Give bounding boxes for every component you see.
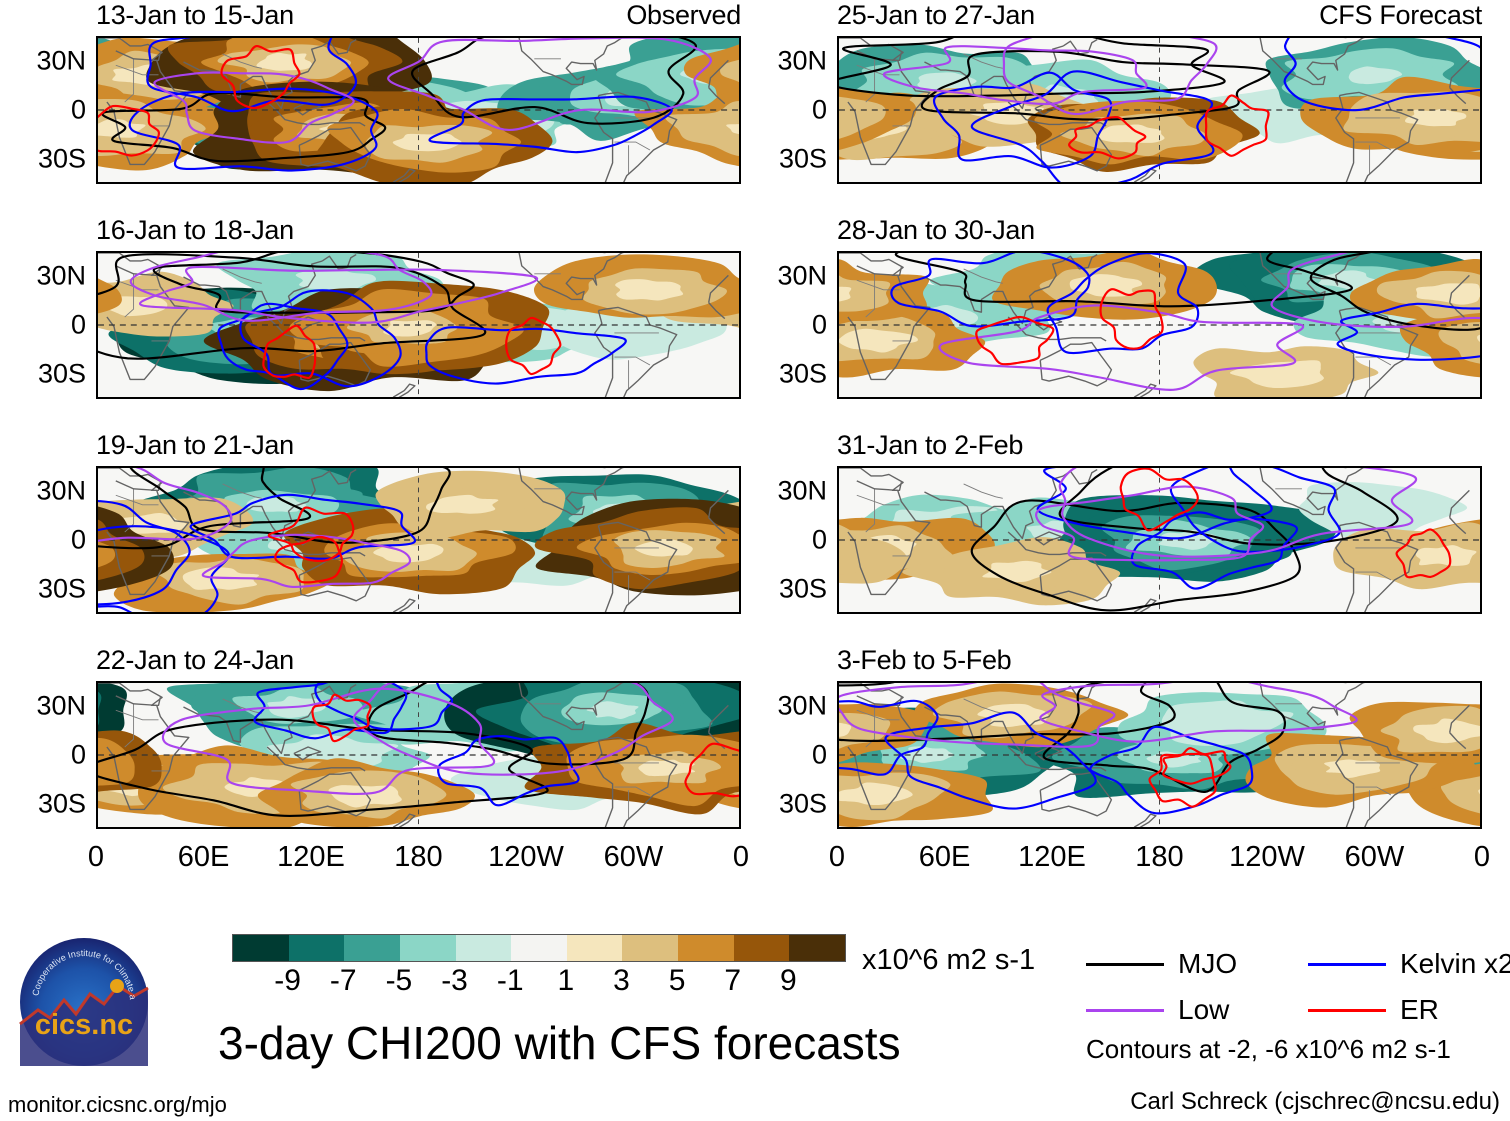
- xaxis-forecast: 060E120E180120W60W0: [837, 837, 1482, 883]
- xaxis-observed: 060E120E180120W60W0: [96, 837, 741, 883]
- ytick-30S: 30S: [779, 146, 827, 173]
- xtick-60E-1: 60E: [919, 843, 971, 872]
- ytick-0: 0: [812, 742, 827, 769]
- colorbar-tick--5: -5: [386, 966, 413, 996]
- svg-text:cics.nc: cics.nc: [35, 1009, 133, 1041]
- cics-nc-logo: cics.nc Cooperative Institute for Climat…: [18, 936, 150, 1068]
- panel-fcst-2-svg: [839, 253, 1480, 397]
- xtick-0-1: 0: [829, 843, 845, 872]
- xtick-120E-0: 120E: [277, 843, 345, 872]
- panel-obs-1-svg: [98, 38, 739, 182]
- ytick-0: 0: [71, 312, 86, 339]
- colorbar-swatch-5: [511, 935, 567, 961]
- panel-fcst-3: 31-Jan to 2-Feb30N030S: [837, 466, 1482, 614]
- ytick-0: 0: [71, 527, 86, 554]
- panel-fcst-3-map[interactable]: [837, 466, 1482, 614]
- xtick-60W-0: 60W: [604, 843, 664, 872]
- colorbar-units-label: x10^6 m2 s-1: [862, 946, 1035, 975]
- panel-fcst-4-svg: [839, 683, 1480, 827]
- colorbar-tick-9: 9: [780, 966, 797, 996]
- legend-low-label: Low: [1178, 996, 1229, 1024]
- legend-er-swatch: [1308, 1009, 1386, 1012]
- panel-obs-4-svg: [98, 683, 739, 827]
- panel-fcst-3-svg: [839, 468, 1480, 612]
- colorbar-tick-5: 5: [669, 966, 686, 996]
- ytick-30N: 30N: [777, 692, 827, 719]
- ytick-0: 0: [71, 742, 86, 769]
- panel-obs-3-yaxis: 30N030S: [4, 466, 94, 614]
- ytick-30N: 30N: [36, 477, 86, 504]
- panel-fcst-2-yaxis: 30N030S: [745, 251, 835, 399]
- colorbar-tick--1: -1: [497, 966, 524, 996]
- panel-fcst-2-title: 28-Jan to 30-Jan: [837, 217, 1035, 244]
- colorbar-swatch-4: [456, 935, 512, 961]
- contour-note: Contours at -2, -6 x10^6 m2 s-1: [1086, 1036, 1451, 1062]
- colorbar-tick--7: -7: [330, 966, 357, 996]
- xtick-120W-1: 120W: [1229, 843, 1305, 872]
- panel-obs-1-yaxis: 30N030S: [4, 36, 94, 184]
- xtick-120E-1: 120E: [1018, 843, 1086, 872]
- panel-obs-2-yaxis: 30N030S: [4, 251, 94, 399]
- panel-obs-1-map[interactable]: [96, 36, 741, 184]
- ytick-0: 0: [812, 312, 827, 339]
- xtick-180-1: 180: [1135, 843, 1183, 872]
- legend-kelvin-swatch: [1308, 963, 1386, 966]
- ytick-30S: 30S: [38, 576, 86, 603]
- panel-fcst-4: 3-Feb to 5-Feb30N030S: [837, 681, 1482, 829]
- panel-obs-2-title: 16-Jan to 18-Jan: [96, 217, 294, 244]
- panel-obs-3: 19-Jan to 21-Jan30N030S: [96, 466, 741, 614]
- panel-fcst-2: 28-Jan to 30-Jan30N030S: [837, 251, 1482, 399]
- xtick-0-1: 0: [1474, 843, 1490, 872]
- colorbar-tick-7: 7: [724, 966, 741, 996]
- panel-fcst-1-svg: [839, 38, 1480, 182]
- panel-fcst-3-title: 31-Jan to 2-Feb: [837, 432, 1023, 459]
- panel-obs-3-map[interactable]: [96, 466, 741, 614]
- xtick-120W-0: 120W: [488, 843, 564, 872]
- panel-fcst-1-yaxis: 30N030S: [745, 36, 835, 184]
- colorbar-swatch-9: [734, 935, 790, 961]
- colorbar-swatch-1: [289, 935, 345, 961]
- colorbar-tick-1: 1: [557, 966, 574, 996]
- panel-fcst-1-map[interactable]: [837, 36, 1482, 184]
- panel-fcst-1-title: 25-Jan to 27-Jan: [837, 2, 1035, 29]
- panel-obs-1-corner-label: Observed: [626, 2, 741, 29]
- panel-fcst-1-corner-label: CFS Forecast: [1319, 2, 1482, 29]
- ytick-30N: 30N: [777, 47, 827, 74]
- colorbar-tick--3: -3: [441, 966, 468, 996]
- panel-obs-4-map[interactable]: [96, 681, 741, 829]
- legend-low[interactable]: Low: [1086, 996, 1229, 1024]
- panel-obs-2-map[interactable]: [96, 251, 741, 399]
- panel-obs-4-title: 22-Jan to 24-Jan: [96, 647, 294, 674]
- legend-er-label: ER: [1400, 996, 1439, 1024]
- footer-url[interactable]: monitor.cicsnc.org/mjo: [8, 1094, 227, 1116]
- colorbar-swatch-0: [233, 935, 289, 961]
- panel-obs-3-svg: [98, 468, 739, 612]
- ytick-30S: 30S: [779, 361, 827, 388]
- footer-author: Carl Schreck (cjschrec@ncsu.edu): [1130, 1090, 1500, 1114]
- panel-obs-3-title: 19-Jan to 21-Jan: [96, 432, 294, 459]
- xtick-60W-1: 60W: [1345, 843, 1405, 872]
- panel-obs-1-title: 13-Jan to 15-Jan: [96, 2, 294, 29]
- colorbar-swatch-6: [567, 935, 623, 961]
- colorbar-swatch-2: [344, 935, 400, 961]
- xtick-180-0: 180: [394, 843, 442, 872]
- ytick-30N: 30N: [36, 692, 86, 719]
- ytick-0: 0: [71, 97, 86, 124]
- colorbar-tick--9: -9: [274, 966, 301, 996]
- ytick-0: 0: [812, 527, 827, 554]
- panel-fcst-4-map[interactable]: [837, 681, 1482, 829]
- ytick-30N: 30N: [36, 262, 86, 289]
- panel-fcst-2-map[interactable]: [837, 251, 1482, 399]
- legend-mjo-swatch: [1086, 963, 1164, 966]
- panel-fcst-4-title: 3-Feb to 5-Feb: [837, 647, 1011, 674]
- ytick-30S: 30S: [779, 576, 827, 603]
- legend-mjo[interactable]: MJO: [1086, 950, 1237, 978]
- ytick-30N: 30N: [36, 47, 86, 74]
- legend-kelvin-label: Kelvin x2: [1400, 950, 1510, 978]
- ytick-30S: 30S: [779, 791, 827, 818]
- panel-fcst-4-yaxis: 30N030S: [745, 681, 835, 829]
- panel-obs-2: 16-Jan to 18-Jan30N030S: [96, 251, 741, 399]
- page-title: 3-day CHI200 with CFS forecasts: [218, 1020, 901, 1066]
- legend-low-swatch: [1086, 1009, 1164, 1012]
- panel-obs-1: 13-Jan to 15-JanObserved30N030S: [96, 36, 741, 184]
- panel-fcst-3-yaxis: 30N030S: [745, 466, 835, 614]
- ytick-30N: 30N: [777, 262, 827, 289]
- ytick-30S: 30S: [38, 146, 86, 173]
- legend-mjo-label: MJO: [1178, 950, 1237, 978]
- legend-er[interactable]: ER: [1308, 996, 1439, 1024]
- panel-obs-2-svg: [98, 253, 739, 397]
- panel-obs-4-yaxis: 30N030S: [4, 681, 94, 829]
- colorbar-swatch-7: [622, 935, 678, 961]
- colorbar-swatch-10: [789, 935, 845, 961]
- logo-svg: cics.nc Cooperative Institute for Climat…: [18, 936, 150, 1068]
- xtick-0-0: 0: [88, 843, 104, 872]
- ytick-30S: 30S: [38, 361, 86, 388]
- xtick-60E-0: 60E: [178, 843, 230, 872]
- panel-obs-4: 22-Jan to 24-Jan30N030S: [96, 681, 741, 829]
- panel-fcst-1: 25-Jan to 27-JanCFS Forecast30N030S: [837, 36, 1482, 184]
- wave-legend: MJOKelvin x2LowER: [1086, 950, 1506, 1040]
- legend-kelvin[interactable]: Kelvin x2: [1308, 950, 1510, 978]
- colorbar-tick-3: 3: [613, 966, 630, 996]
- ytick-30S: 30S: [38, 791, 86, 818]
- ytick-0: 0: [812, 97, 827, 124]
- colorbar-swatch-3: [400, 935, 456, 961]
- colorbar-ticks: -9-7-5-3-113579: [232, 966, 844, 1002]
- ytick-30N: 30N: [777, 477, 827, 504]
- xtick-0-0: 0: [733, 843, 749, 872]
- colorbar: [232, 934, 846, 962]
- colorbar-swatch-8: [678, 935, 734, 961]
